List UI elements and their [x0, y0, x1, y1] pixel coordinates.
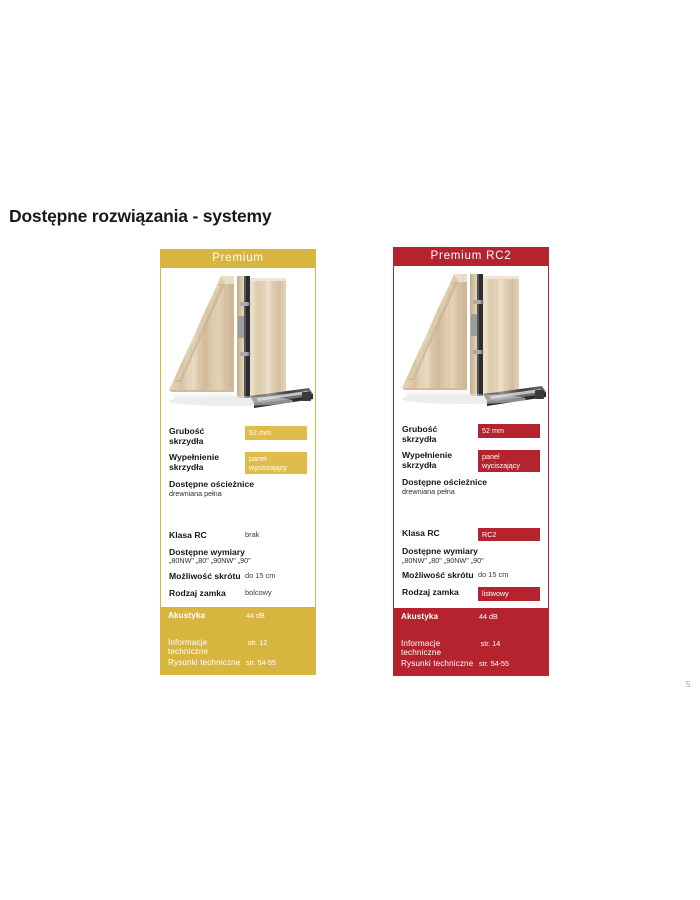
panel-footer-premium-rc2: Akustyka 44 dB Informacje techniczne str…: [393, 608, 549, 676]
spec-list-premium-rc2: Grubość skrzydła 52 mm Wypełnienie skrzy…: [394, 418, 548, 608]
door-product-illustration: [161, 268, 315, 420]
footer-value: str. 12: [248, 638, 308, 647]
spec-label: Rodzaj zamka: [169, 588, 230, 598]
spec-row: Wypełnienie skrzydła panel wyciszający: [169, 452, 307, 475]
spec-subvalue: drewniana pełna: [402, 488, 540, 497]
spec-label: Grubość skrzydła: [169, 426, 245, 447]
footer-label: Akustyka: [168, 611, 205, 620]
spec-subvalue: „80NW" „80" „90NW" „90": [402, 557, 540, 566]
spec-row: Dostępne ościeżnice drewniana pełna: [402, 477, 540, 496]
footer-value: str. 54-55: [479, 659, 541, 668]
footer-label: Rysunki techniczne: [401, 659, 473, 668]
footer-link-tech-drawings[interactable]: Rysunki techniczne str. 54-55: [168, 658, 308, 667]
footer-label: Informacje techniczne: [168, 638, 248, 656]
spec-subvalue: „80NW" „80" „90NW" „90": [169, 557, 307, 566]
footer-value: 44 dB: [246, 611, 308, 620]
spec-label: Rodzaj zamka: [402, 587, 463, 597]
footer-link-tech-info[interactable]: Informacje techniczne str. 12: [168, 638, 308, 656]
spec-label: Klasa RC: [169, 530, 211, 540]
footer-row-acoustics: Akustyka 44 dB: [168, 611, 308, 620]
footer-label: Informacje techniczne: [401, 639, 481, 657]
footer-label: Akustyka: [401, 612, 438, 621]
footer-link-tech-drawings[interactable]: Rysunki techniczne str. 54-55: [401, 659, 541, 668]
door-product-illustration: [394, 266, 548, 418]
spec-row: Możliwość skrótu do 15 cm: [402, 570, 540, 582]
spec-row: Dostępne ościeżnice drewniana pełna: [169, 479, 307, 498]
panel-header-premium-rc2: Premium RC2: [393, 247, 549, 266]
product-panel-premium-rc2: Premium RC2: [393, 247, 549, 676]
footer-value: 44 dB: [479, 612, 541, 621]
panel-header-premium: Premium: [160, 249, 316, 268]
page-title: Dostępne rozwiązania - systemy: [9, 206, 271, 227]
spec-label: Klasa RC: [402, 528, 444, 538]
spec-row: Grubość skrzydła 52 mm: [169, 426, 307, 447]
spec-list-premium: Grubość skrzydła 52 mm Wypełnienie skrzy…: [161, 420, 315, 607]
spec-label: Dostępne wymiary: [402, 546, 540, 556]
spec-spacer: [402, 502, 540, 528]
spec-row: Wypełnienie skrzydła panel wyciszający: [402, 450, 540, 473]
spec-value: bolcowy: [245, 588, 307, 597]
spec-value-badge: panel wyciszający: [478, 450, 540, 473]
spec-value-badge: 52 mm: [245, 426, 307, 440]
spec-row: Rodzaj zamka bolcowy: [169, 588, 307, 600]
footer-spacer: [401, 621, 541, 637]
footer-value: str. 54-55: [246, 658, 308, 667]
spec-value: brak: [245, 530, 307, 539]
spec-label: Możliwość skrótu: [402, 570, 478, 580]
spec-value-badge: panel wyciszający: [245, 452, 307, 475]
spec-value-badge: listwowy: [478, 587, 540, 601]
product-panel-premium: Premium: [160, 249, 316, 675]
spec-row: Klasa RC brak: [169, 530, 307, 542]
spec-subvalue: drewniana pełna: [169, 490, 307, 499]
spec-row: Dostępne wymiary „80NW" „80" „90NW" „90": [169, 547, 307, 566]
panel-body-premium: Grubość skrzydła 52 mm Wypełnienie skrzy…: [160, 268, 316, 607]
spec-row: Rodzaj zamka listwowy: [402, 587, 540, 601]
spec-row: Klasa RC RC2: [402, 528, 540, 542]
footer-label: Rysunki techniczne: [168, 658, 240, 667]
page-number: 5: [686, 680, 690, 689]
panel-body-premium-rc2: Grubość skrzydła 52 mm Wypełnienie skrzy…: [393, 266, 549, 608]
spec-value: do 15 cm: [245, 571, 307, 580]
spec-label: Wypełnienie skrzydła: [402, 450, 456, 471]
footer-value: str. 14: [481, 639, 541, 648]
spec-label: Wypełnienie skrzydła: [169, 452, 223, 473]
spec-value: do 15 cm: [478, 570, 540, 579]
spec-value-badge: 52 mm: [478, 424, 540, 438]
spec-label: Grubość skrzydła: [402, 424, 478, 445]
spec-row: Dostępne wymiary „80NW" „80" „90NW" „90": [402, 546, 540, 565]
product-photo-premium-rc2: [394, 266, 548, 418]
spec-value-badge: RC2: [478, 528, 540, 542]
panel-footer-premium: Akustyka 44 dB Informacje techniczne str…: [160, 607, 316, 675]
footer-row-acoustics: Akustyka 44 dB: [401, 612, 541, 621]
footer-link-tech-info[interactable]: Informacje techniczne str. 14: [401, 639, 541, 657]
spec-row: Możliwość skrótu do 15 cm: [169, 571, 307, 583]
product-photo-premium: [161, 268, 315, 420]
spec-label: Możliwość skrótu: [169, 571, 245, 581]
spec-row: Grubość skrzydła 52 mm: [402, 424, 540, 445]
spec-spacer: [169, 504, 307, 530]
footer-spacer: [168, 620, 308, 636]
